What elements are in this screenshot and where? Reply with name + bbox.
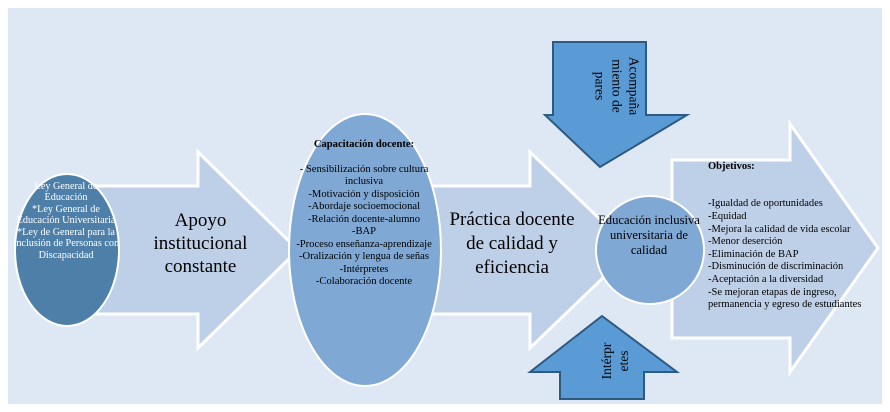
acompanamiento-pares-arrow-label-wrap: Acompaña miento de pares bbox=[556, 36, 676, 136]
diagram-canvas: Ley General de Educación *Ley General de… bbox=[0, 0, 890, 412]
capacitacion-docente-label: Capacitación docente: - Sensibilización … bbox=[284, 126, 444, 289]
apoyo-institucional-arrow-label: Apoyo institucional constante bbox=[137, 209, 264, 279]
interpretes-arrow-label: Intérpr etes bbox=[599, 323, 633, 399]
leyes-ellipse-label: Ley General de Educación *Ley General de… bbox=[12, 181, 120, 261]
interpretes-arrow-label-wrap: Intérpr etes bbox=[556, 320, 676, 402]
acompanamiento-pares-arrow-label: Acompaña miento de pares bbox=[591, 37, 642, 135]
objetivos-items: -Igualdad de oportunidades -Equidad -Mej… bbox=[708, 198, 861, 310]
educacion-inclusiva-label: Educación inclusiva universitaria de cal… bbox=[596, 213, 702, 258]
practica-docente-arrow-label: Práctica docente de calidad y eficiencia bbox=[443, 208, 581, 279]
capacitacion-docente-items: - Sensibilización sobre cultura inclusiv… bbox=[296, 164, 432, 288]
objetivos-block: Objetivos: -Igualdad de oportunidades -E… bbox=[708, 148, 876, 312]
capacitacion-docente-title: Capacitación docente: bbox=[314, 139, 414, 150]
objetivos-title: Objetivos: bbox=[708, 161, 876, 174]
